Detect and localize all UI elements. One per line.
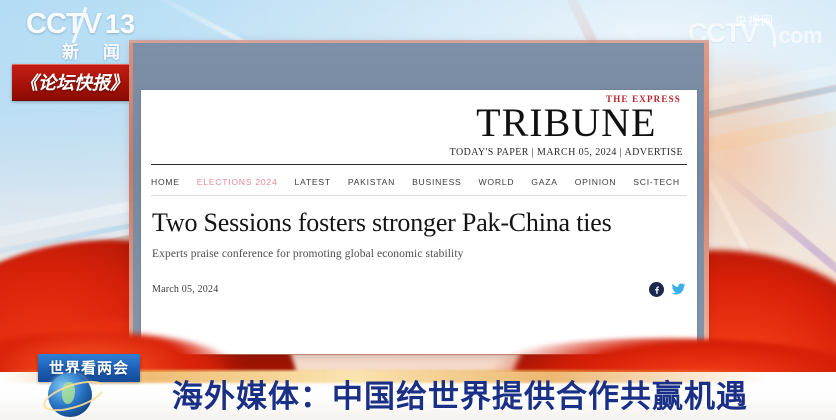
news-screenshot-panel: THE EXPRESS TRIBUNE TODAY'S PAPER | MARC… — [133, 43, 704, 352]
article-block: Two Sessions fosters stronger Pak-China … — [152, 208, 686, 297]
nav-item-world[interactable]: WORLD — [479, 177, 515, 187]
nav-item-home[interactable]: HOME — [151, 177, 180, 187]
nav-item-latest[interactable]: LATEST — [295, 177, 331, 187]
cctv-logo-subtitle: 新 闻 — [62, 38, 129, 63]
globe-icon — [42, 372, 102, 418]
main-navigation[interactable]: HOMEELECTIONS 2024LATESTPAKISTANBUSINESS… — [151, 169, 697, 195]
masthead-inner: THE EXPRESS TRIBUNE TODAY'S PAPER | MARC… — [450, 94, 683, 158]
watermark-arc-icon — [753, 18, 776, 47]
masthead-meta[interactable]: TODAY'S PAPER | MARCH 05, 2024 | ADVERTI… — [450, 147, 683, 158]
nav-item-business[interactable]: BUSINESS — [412, 177, 461, 187]
nav-divider-bottom — [151, 195, 687, 196]
article-subheadline: Experts praise conference for promoting … — [152, 248, 686, 260]
broadcast-frame: CCTV 13 新 闻 《论坛快报》 央视网 CCTV com THE EXPR… — [0, 0, 836, 420]
lower-third-headline: 海外媒体：中国给世界提供合作共赢机遇 — [172, 371, 748, 416]
nav-item-elections-2024[interactable]: ELECTIONS 2024 — [197, 177, 278, 187]
panel-left-border — [129, 43, 133, 352]
nav-item-gaza[interactable]: GAZA — [531, 177, 557, 187]
social-share-group — [649, 282, 686, 297]
cctv-channel-number: 13 — [105, 9, 135, 40]
nav-divider-top — [151, 164, 687, 165]
masthead-title[interactable]: TRIBUNE — [450, 104, 683, 142]
program-title-tag: 《论坛快报》 — [12, 64, 136, 101]
nav-item-pakistan[interactable]: PAKISTAN — [348, 177, 395, 187]
program-title-text: 《论坛快报》 — [20, 73, 128, 94]
watermark-suffix-text: com — [778, 23, 822, 49]
express-tribune-webpage: THE EXPRESS TRIBUNE TODAY'S PAPER | MARC… — [141, 90, 697, 354]
nav-item-sci-tech[interactable]: SCI-TECH — [633, 177, 680, 187]
masthead: THE EXPRESS TRIBUNE TODAY'S PAPER | MARC… — [141, 90, 697, 164]
article-date: March 05, 2024 — [152, 284, 218, 295]
facebook-icon[interactable] — [649, 282, 664, 297]
nav-item-opinion[interactable]: OPINION — [575, 177, 617, 187]
lower-third-banner: 世界看两会 海外媒体：中国给世界提供合作共赢机遇 — [0, 348, 836, 420]
panel-right-border — [704, 43, 709, 352]
article-byline-row: March 05, 2024 — [152, 282, 686, 297]
article-headline[interactable]: Two Sessions fosters stronger Pak-China … — [152, 208, 686, 237]
cctv-logo-text: CCTV — [26, 8, 101, 41]
twitter-icon[interactable] — [671, 282, 686, 297]
panel-top-border — [129, 40, 709, 43]
